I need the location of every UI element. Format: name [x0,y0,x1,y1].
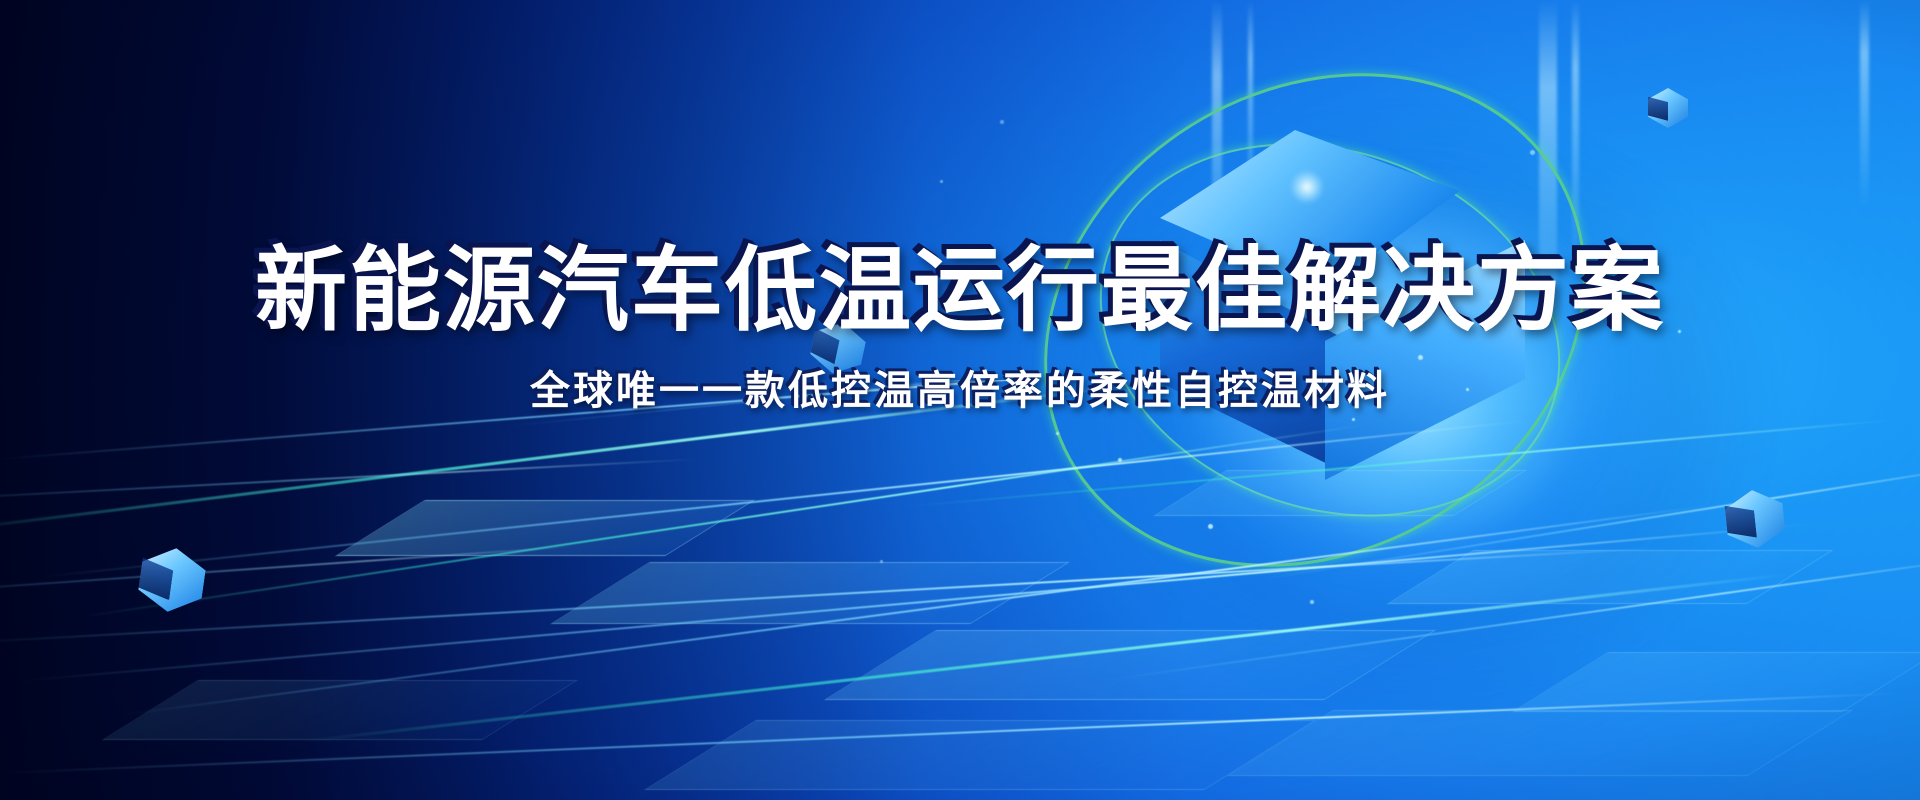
hero-banner: 新能源汽车低温运行最佳解决方案 全球唯一一款低控温高倍率的柔性自控温材料 [0,0,1920,800]
vignette-overlay [0,0,1920,800]
